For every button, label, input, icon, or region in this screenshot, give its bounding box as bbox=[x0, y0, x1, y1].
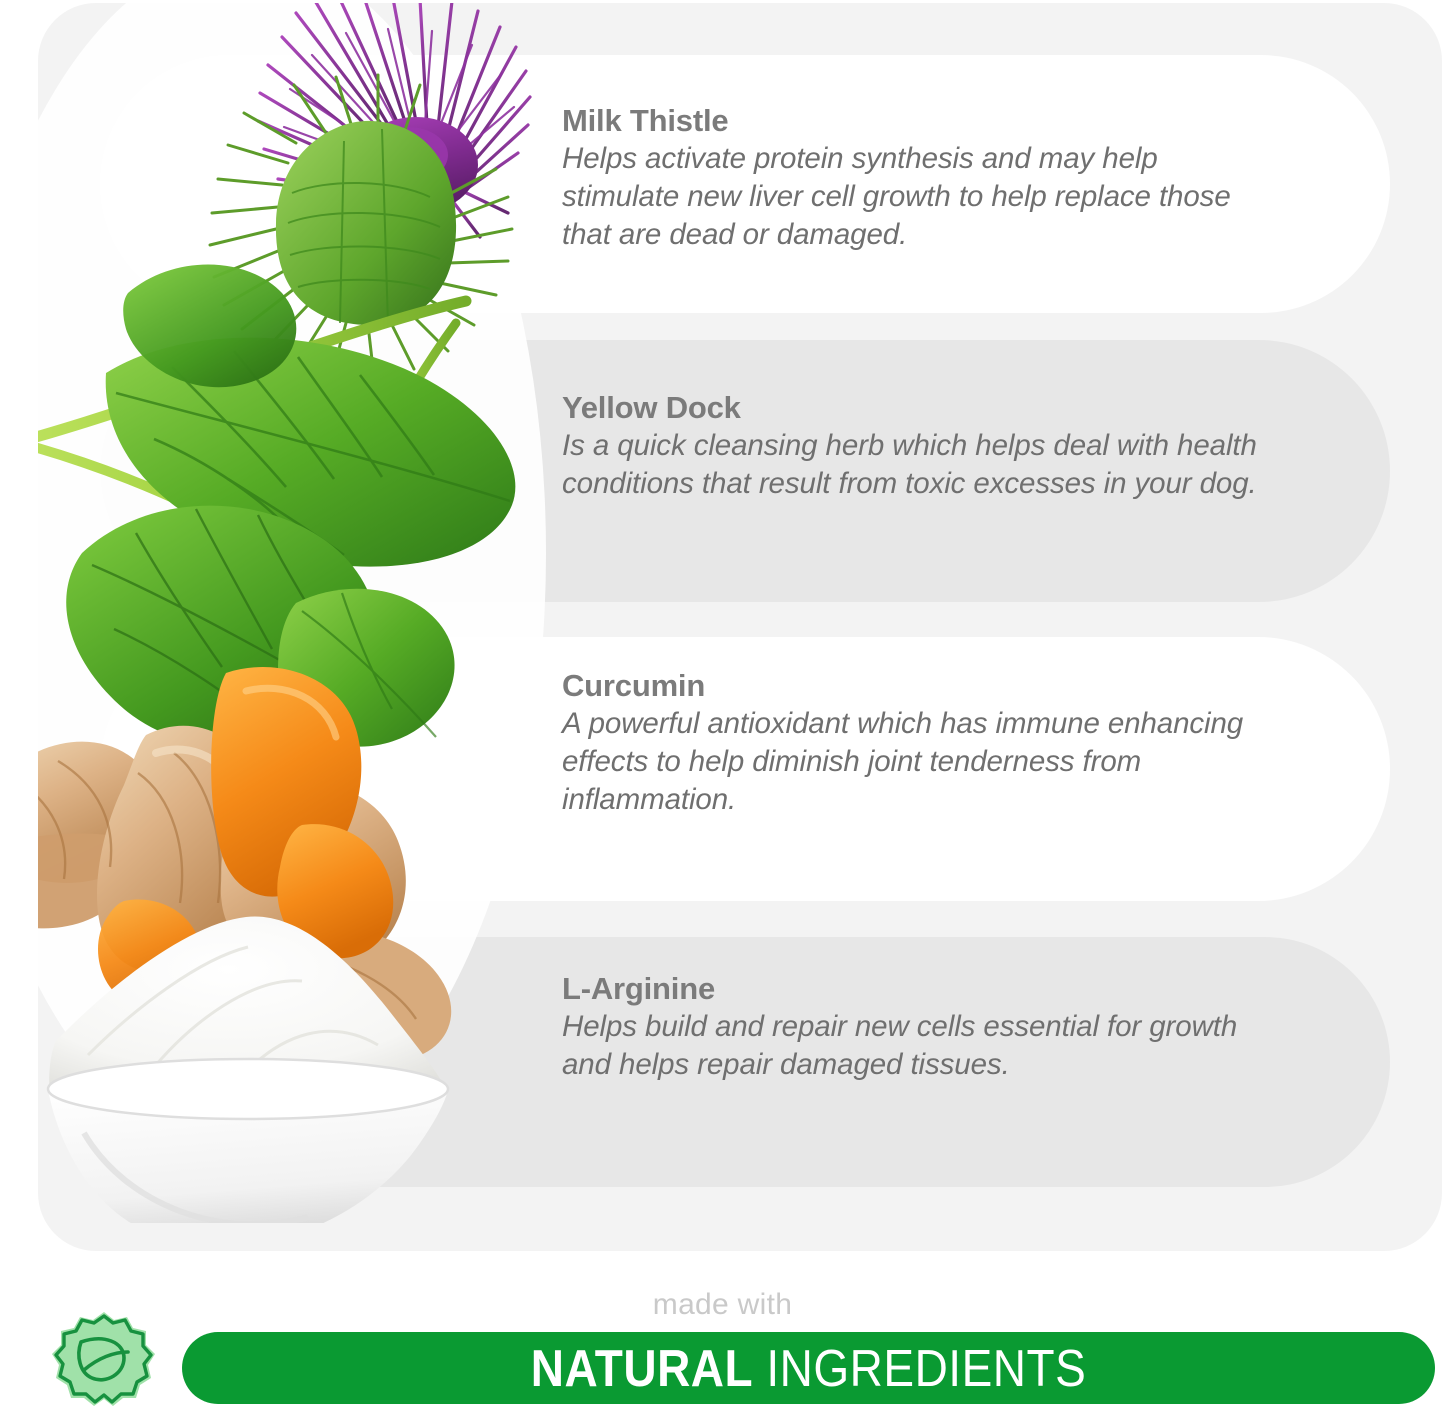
ingredient-cards-panel: Milk Thistle Helps activate protein synt… bbox=[38, 3, 1442, 1251]
ingredient-text-l-arginine: L-Arginine Helps build and repair new ce… bbox=[562, 971, 1322, 1084]
ingredient-description: Is a quick cleansing herb which helps de… bbox=[562, 427, 1282, 504]
ingredient-text-curcumin: Curcumin A powerful antioxidant which ha… bbox=[562, 668, 1282, 820]
natural-ingredients-banner: NATURAL INGREDIENTS bbox=[182, 1332, 1435, 1404]
ingredient-description: A powerful antioxidant which has immune … bbox=[562, 705, 1282, 820]
banner-ingredients-label: INGREDIENTS bbox=[766, 1339, 1086, 1397]
ingredient-title: Yellow Dock bbox=[562, 390, 1322, 427]
leaf-seal-badge bbox=[48, 1306, 160, 1414]
ingredient-title: L-Arginine bbox=[562, 971, 1322, 1008]
ingredients-infographic: Milk Thistle Helps activate protein synt… bbox=[0, 0, 1445, 1419]
ingredient-title: Milk Thistle bbox=[562, 103, 1322, 140]
made-with-label: made with bbox=[0, 1288, 1445, 1322]
banner-space bbox=[753, 1339, 766, 1397]
banner-natural-label: NATURAL bbox=[531, 1339, 753, 1397]
banner-text: NATURAL INGREDIENTS bbox=[531, 1342, 1087, 1394]
ingredient-description: Helps build and repair new cells essenti… bbox=[562, 1008, 1282, 1085]
ingredient-title: Curcumin bbox=[562, 668, 1282, 705]
ingredient-description: Helps activate protein synthesis and may… bbox=[562, 140, 1282, 255]
ingredient-text-milk-thistle: Milk Thistle Helps activate protein synt… bbox=[562, 103, 1322, 255]
ingredient-text-yellow-dock: Yellow Dock Is a quick cleansing herb wh… bbox=[562, 390, 1322, 503]
